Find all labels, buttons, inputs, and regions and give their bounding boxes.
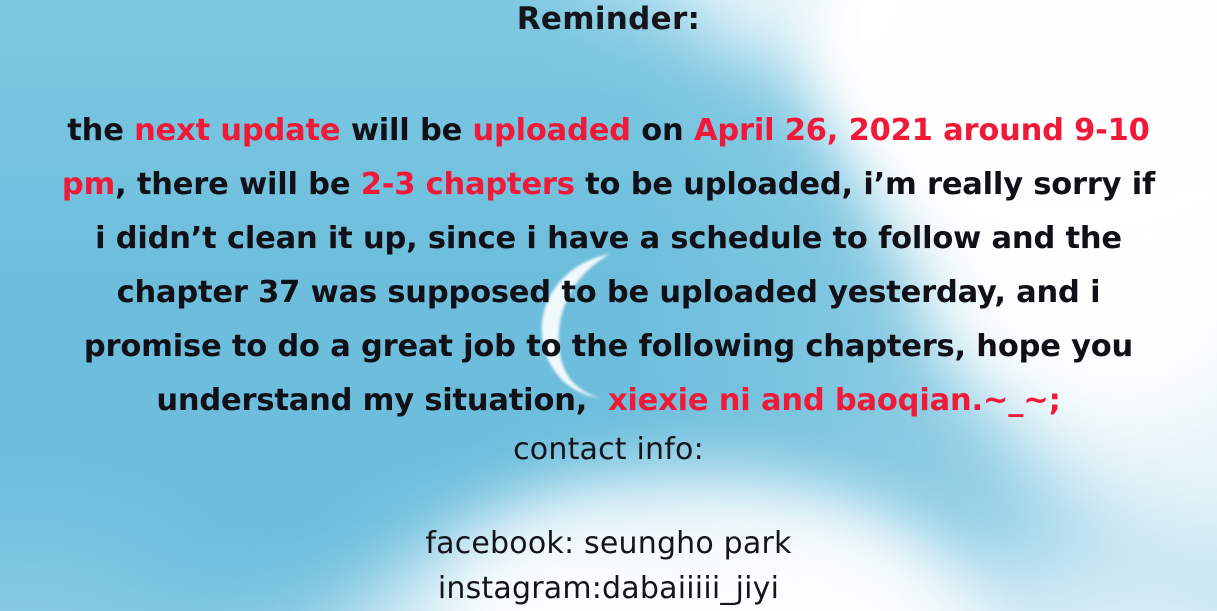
body-segment: understand my situation, bbox=[156, 383, 608, 418]
body-segment: chapter 37 was supposed to be uploaded y… bbox=[117, 275, 1101, 310]
body-segment: on bbox=[631, 113, 694, 148]
body-segment: , there will be bbox=[115, 167, 361, 202]
body-segment: will be bbox=[340, 113, 472, 148]
body-segment: promise to do a great job to the followi… bbox=[84, 329, 1133, 364]
reminder-poster: Reminder: the next update will be upload… bbox=[0, 0, 1217, 611]
contact-info-label: contact info: bbox=[0, 432, 1217, 467]
announcement-body: the next update will be uploaded on Apri… bbox=[8, 104, 1209, 428]
body-segment-highlight: pm bbox=[62, 167, 115, 202]
body-line-2: pm, there will be 2-3 chapters to be upl… bbox=[8, 158, 1209, 212]
body-line-1: the next update will be uploaded on Apri… bbox=[8, 104, 1209, 158]
body-line-6: understand my situation, xiexie ni and b… bbox=[8, 374, 1209, 428]
contact-instagram: instagram:dabaiiiii_jiyi bbox=[0, 566, 1217, 611]
body-segment-highlight: 2-3 chapters bbox=[361, 167, 575, 202]
body-segment-highlight: uploaded bbox=[473, 113, 631, 148]
contact-info-list: facebook: seungho park instagram:dabaiii… bbox=[0, 521, 1217, 611]
body-line-3: i didn’t clean it up, since i have a sch… bbox=[8, 212, 1209, 266]
body-segment-highlight: next update bbox=[134, 113, 340, 148]
body-line-4: chapter 37 was supposed to be uploaded y… bbox=[8, 266, 1209, 320]
body-segment-highlight: April 26, 2021 around 9-10 bbox=[694, 113, 1150, 148]
body-segment: the bbox=[67, 113, 134, 148]
body-line-5: promise to do a great job to the followi… bbox=[8, 320, 1209, 374]
body-segment: i didn’t clean it up, since i have a sch… bbox=[95, 221, 1122, 256]
body-segment: to be uploaded, i’m really sorry if bbox=[575, 167, 1155, 202]
body-segment-highlight: xiexie ni and baoqian.~_~; bbox=[608, 383, 1061, 418]
page-title: Reminder: bbox=[0, 1, 1217, 37]
contact-facebook: facebook: seungho park bbox=[0, 521, 1217, 566]
poster-text-content: Reminder: the next update will be upload… bbox=[0, 0, 1217, 611]
